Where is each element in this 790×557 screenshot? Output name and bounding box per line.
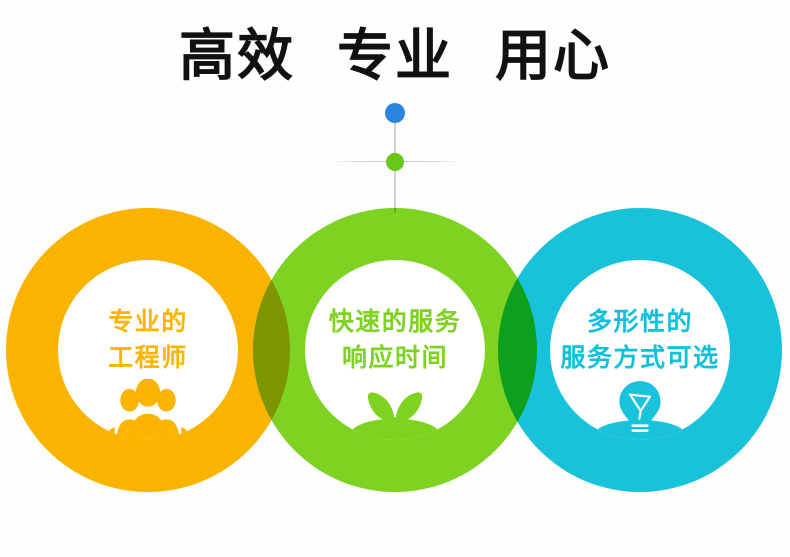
orange-circle-text: 专业的 工程师 — [108, 304, 188, 375]
cyan-circle-line2: 服务方式可选 — [560, 340, 719, 376]
green-circle-line2: 响应时间 — [329, 340, 462, 376]
green-circle-line1: 快速的服务 — [329, 307, 462, 336]
circle-card-response[interactable]: 快速的服务 响应时间 — [305, 260, 485, 440]
circle-card-service-modes[interactable]: 多形性的 服务方式可选 — [550, 260, 730, 440]
cyan-circle-text: 多形性的 服务方式可选 — [560, 304, 719, 375]
orange-circle-line2: 工程师 — [108, 340, 188, 376]
cyan-circle-line1: 多形性的 — [587, 307, 693, 336]
orange-circle-line1: 专业的 — [108, 307, 188, 336]
poster-canvas: 高效专业用心 专业的 工程师 — [0, 0, 790, 557]
circle-card-engineers[interactable]: 专业的 工程师 — [58, 260, 238, 440]
green-circle-text: 快速的服务 响应时间 — [329, 304, 462, 375]
